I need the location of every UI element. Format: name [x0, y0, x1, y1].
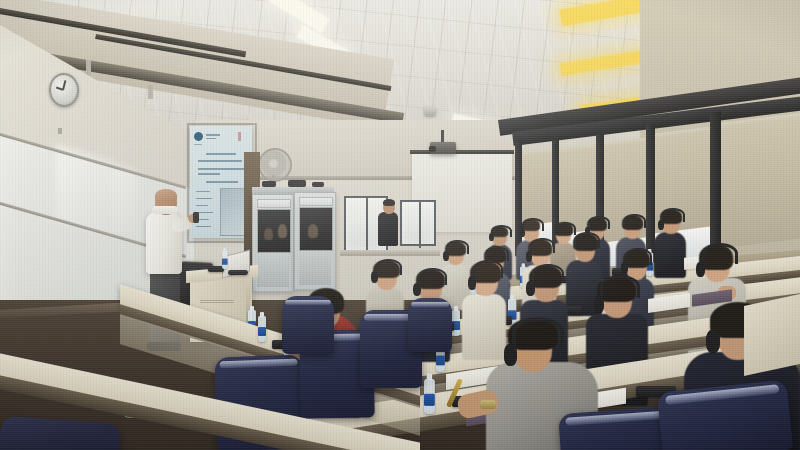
window-mullion	[515, 142, 522, 257]
slide-title-line	[206, 153, 236, 155]
lectern-vent	[200, 300, 234, 304]
slide-text-line	[206, 138, 216, 139]
slide-bullet-line	[196, 226, 211, 227]
pull-down-screen-roller	[410, 150, 514, 154]
slide-text-line	[194, 144, 202, 145]
interpreter-booth	[294, 192, 336, 290]
projection-screen	[190, 126, 252, 238]
booth-label-plate	[257, 199, 291, 208]
interpreter-silhouette	[308, 224, 318, 238]
window-sill	[340, 250, 440, 256]
slide-text-line	[206, 181, 238, 183]
water-bottle	[222, 251, 228, 269]
booth-lower-panel	[299, 253, 331, 285]
water-bottle	[258, 316, 266, 342]
slide-bullet-line	[196, 191, 210, 192]
slide-text-line	[198, 160, 242, 162]
booth-equipment	[312, 182, 324, 187]
interpreter-silhouette	[278, 224, 287, 238]
booth-lower-panel	[257, 255, 289, 287]
booth-window	[299, 207, 333, 251]
slide-logo-icon	[194, 132, 203, 141]
wristwatch-icon	[480, 400, 496, 409]
presentation-remote	[193, 212, 199, 223]
smoke-detector-icon	[424, 106, 436, 116]
standing-man-back	[378, 212, 398, 246]
wall-fan-icon	[258, 148, 292, 182]
slide-text-line	[206, 134, 220, 136]
lecture-hall-photo: Conference lecture hall with simultaneou…	[0, 0, 800, 450]
standing-man-hair	[383, 199, 395, 206]
presenter-hair	[155, 189, 177, 202]
slide-bullet-line	[196, 205, 208, 206]
roller-blind	[716, 113, 800, 250]
lectern-cable	[228, 270, 248, 275]
chair[interactable]	[282, 296, 334, 354]
chair[interactable]	[408, 298, 452, 352]
booth-label-plate	[299, 197, 333, 206]
projector-lens-icon	[429, 146, 436, 152]
water-bottle	[424, 379, 435, 414]
soffit-bracket	[86, 60, 91, 76]
booth-window	[257, 209, 291, 253]
interpreter-booth	[252, 194, 294, 292]
chair[interactable]	[657, 379, 794, 450]
wall-fixture	[58, 128, 62, 134]
booth-equipment	[262, 181, 276, 187]
interpreter-silhouette	[264, 228, 273, 240]
presenter-collar	[152, 206, 178, 214]
soffit-bracket	[148, 85, 153, 99]
desk-right-corner	[744, 294, 800, 376]
back-window	[400, 200, 436, 246]
slide-bullet-line	[196, 198, 212, 199]
slide-accent-bar	[238, 132, 241, 141]
slide-text-line	[198, 168, 244, 170]
slide-text-line	[198, 173, 220, 175]
booth-equipment	[288, 180, 306, 187]
